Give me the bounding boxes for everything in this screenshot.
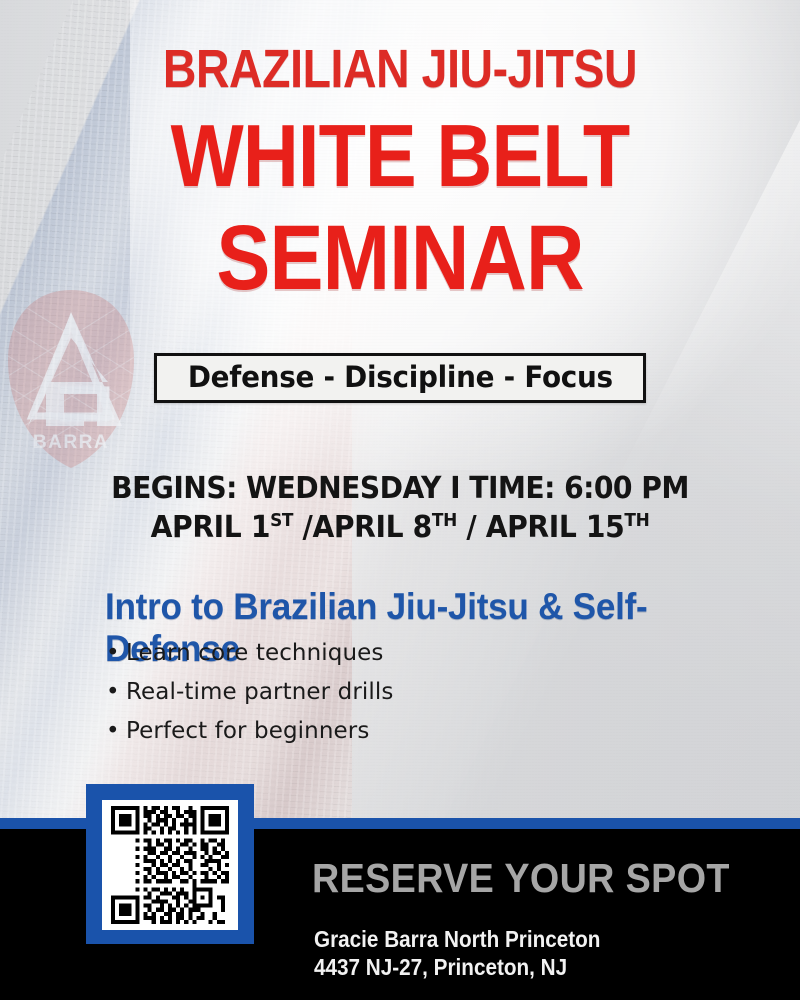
list-item-label: Learn core techniques [126, 634, 384, 673]
list-item: • Real-time partner drills [106, 673, 393, 712]
feature-list: • Learn core techniques • Real-time part… [106, 634, 393, 751]
qr-code-quiet-zone [102, 800, 238, 930]
footer-address: 4437 NJ-27, Princeton, NJ [314, 953, 567, 981]
qr-code-icon[interactable] [108, 806, 232, 924]
headline-kicker: BRAZILIAN JIU-JITSU [56, 42, 744, 96]
list-item-label: Perfect for beginners [126, 712, 369, 751]
schedule-date-3: / APRIL 15 [457, 510, 625, 545]
schedule-date-1-ordinal: ST [270, 510, 293, 531]
schedule-date-3-ordinal: TH [624, 510, 649, 531]
flyer-poster: BARRA BRAZILIAN JIU-JITSU WHITE BELT SEM… [0, 0, 800, 1000]
list-item: • Perfect for beginners [106, 712, 393, 751]
bullet-icon: • [106, 634, 126, 673]
headline-line-seminar: SEMINAR [48, 212, 752, 304]
list-item: • Learn core techniques [106, 634, 393, 673]
schedule-dates: APRIL 1ST /APRIL 8TH / APRIL 15TH [24, 508, 776, 548]
bullet-icon: • [106, 673, 126, 712]
list-item-label: Real-time partner drills [126, 673, 393, 712]
headline-line-white-belt: WHITE BELT [48, 112, 752, 200]
schedule-date-1: APRIL 1 [151, 510, 270, 545]
schedule-date-2: /APRIL 8 [293, 510, 432, 545]
tagline-box: Defense - Discipline - Focus [154, 353, 647, 403]
schedule-date-2-ordinal: TH [432, 510, 457, 531]
schedule-block: BEGINS: WEDNESDAY I TIME: 6:00 PM APRIL … [0, 470, 800, 548]
qr-code-frame[interactable] [86, 784, 254, 944]
footer-cta-text: RESERVE YOUR SPOT [312, 855, 730, 901]
tagline-text: Defense - Discipline - Focus [188, 360, 613, 394]
tagline-container: Defense - Discipline - Focus [0, 353, 800, 403]
footer-venue-name: Gracie Barra North Princeton [314, 925, 600, 953]
bullet-icon: • [106, 712, 126, 751]
schedule-day-time: BEGINS: WEDNESDAY I TIME: 6:00 PM [24, 470, 776, 508]
